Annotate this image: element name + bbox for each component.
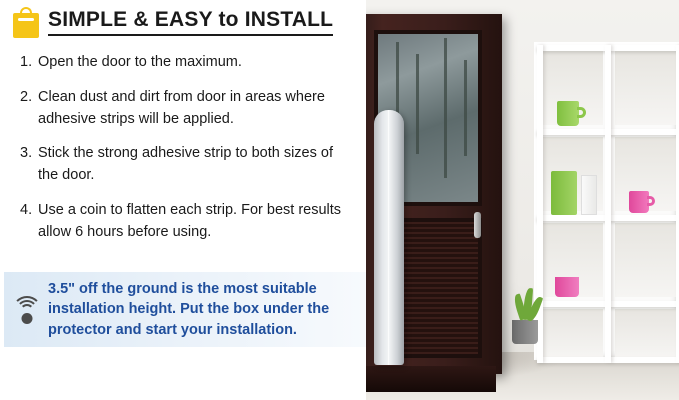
headline-row: SIMPLE & EASY to INSTALL [12,6,333,38]
step-number: 3. [20,143,38,165]
shopping-bag-icon [12,6,40,38]
green-cup-decor [557,101,579,126]
step-text: Clean dust and dirt from door in areas w… [38,87,350,131]
finger-guard-protector [374,110,404,365]
advertisement-infographic: SIMPLE & EASY to INSTALL 1. Open the doo… [0,0,679,400]
note-text: 3.5" off the ground is the most suitable… [48,279,366,341]
step-text: Use a coin to flatten each strip. For be… [38,200,350,244]
list-item: 1. Open the door to the maximum. [20,52,350,74]
list-item: 2. Clean dust and dirt from door in area… [20,87,350,131]
step-number: 2. [20,87,38,109]
signal-waves-icon [10,294,44,326]
list-item: 4. Use a coin to flatten each strip. For… [20,200,350,244]
door-handle [474,212,481,238]
plant-pot [512,320,538,344]
pink-cup-decor [629,191,649,213]
green-box-decor [551,171,577,215]
page-title: SIMPLE & EASY to INSTALL [48,8,333,36]
instructions-panel: SIMPLE & EASY to INSTALL 1. Open the doo… [0,0,366,400]
white-box-decor [581,175,597,215]
shelving-unit [534,42,679,360]
product-photo [366,0,679,400]
step-text: Stick the strong adhesive strip to both … [38,143,350,187]
list-item: 3. Stick the strong adhesive strip to bo… [20,143,350,187]
step-text: Open the door to the maximum. [38,52,242,74]
steps-list: 1. Open the door to the maximum. 2. Clea… [20,52,350,256]
step-number: 4. [20,200,38,222]
installation-height-note: 3.5" off the ground is the most suitable… [4,272,366,347]
pink-pot-decor [555,277,579,297]
door-bottom-rail [366,366,496,392]
step-number: 1. [20,52,38,74]
